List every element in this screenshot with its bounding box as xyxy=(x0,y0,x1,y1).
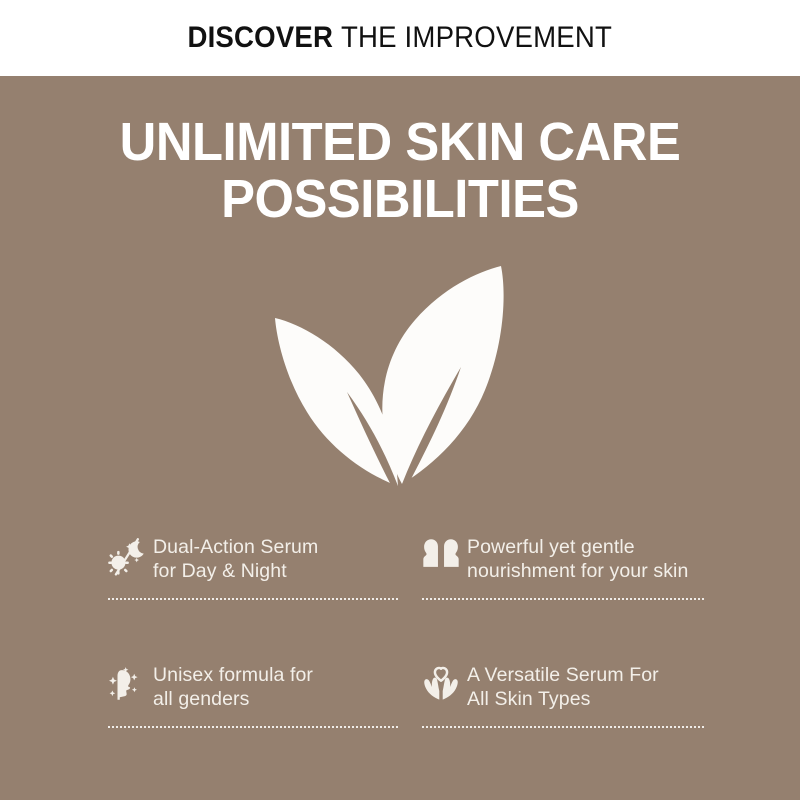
page-title-line-1: UNLIMITED SKIN CARE xyxy=(90,114,710,171)
header-title: DISCOVER THE IMPROVEMENT xyxy=(188,21,613,55)
feature-label: Powerful yet gentle nourishment for your… xyxy=(467,534,688,583)
feature-item-all-skin-types: A Versatile Serum For All Skin Types xyxy=(422,652,704,728)
day-night-sun-moon-icon xyxy=(108,536,146,576)
feature-label-line-2: nourishment for your skin xyxy=(467,560,688,582)
feature-label: Dual-Action Serum for Day & Night xyxy=(153,534,318,583)
page-title-line-2: POSSIBILITIES xyxy=(90,171,710,228)
header-title-strong: DISCOVER xyxy=(188,21,334,54)
feature-label-line-1: Powerful yet gentle xyxy=(467,536,635,558)
feature-label-line-1: Unisex formula for xyxy=(153,664,313,686)
brand-emblem xyxy=(265,262,535,492)
feature-label-line-2: all genders xyxy=(153,688,250,710)
feature-label-line-1: Dual-Action Serum xyxy=(153,536,318,558)
feature-label: A Versatile Serum For All Skin Types xyxy=(467,662,659,711)
sparkle-face-icon xyxy=(108,664,146,704)
feature-grid: Dual-Action Serum for Day & Night xyxy=(108,524,704,728)
two-faces-silhouette-icon xyxy=(422,536,460,576)
feature-label-line-2: All Skin Types xyxy=(467,688,591,710)
feature-item-unisex-formula: Unisex formula for all genders xyxy=(108,652,398,728)
page-title: UNLIMITED SKIN CARE POSSIBILITIES xyxy=(90,114,710,228)
header-band: DISCOVER THE IMPROVEMENT xyxy=(0,0,800,76)
feature-label-line-1: A Versatile Serum For xyxy=(467,664,659,686)
feature-label-line-2: for Day & Night xyxy=(153,560,287,582)
header-title-light: THE IMPROVEMENT xyxy=(341,21,612,54)
two-leaves-icon xyxy=(275,266,504,487)
feature-label: Unisex formula for all genders xyxy=(153,662,313,711)
poster-root: DISCOVER THE IMPROVEMENT UNLIMITED SKIN … xyxy=(0,0,800,800)
heart-in-hands-icon xyxy=(422,664,460,704)
feature-item-dual-action: Dual-Action Serum for Day & Night xyxy=(108,524,398,600)
body-area: UNLIMITED SKIN CARE POSSIBILITIES xyxy=(0,76,800,800)
feature-item-gentle-nourishment: Powerful yet gentle nourishment for your… xyxy=(422,524,704,600)
